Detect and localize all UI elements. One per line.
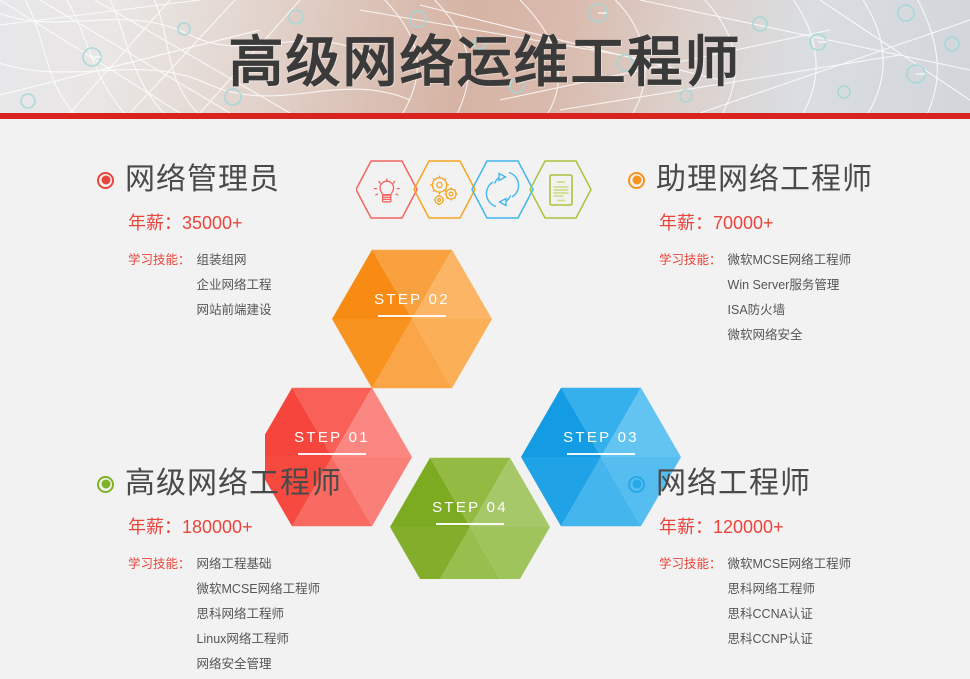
document-hex <box>530 161 591 218</box>
refresh-hex <box>472 161 533 218</box>
step-hex-02-rule <box>378 315 446 317</box>
step-hex-04-rule <box>436 523 504 525</box>
skill-item: 思科CCNP认证 <box>728 627 852 652</box>
skills-label: 学习技能： <box>128 552 191 572</box>
role-header: 助理网络工程师 <box>628 165 873 195</box>
role-title: 网络管理员 <box>125 165 280 195</box>
role-title: 高级网络工程师 <box>125 469 342 499</box>
step-hex-04[interactable] <box>390 458 550 579</box>
skill-item: 思科网络工程师 <box>197 602 321 627</box>
skill-item: Linux网络工程师 <box>197 627 321 652</box>
content-stage: STEP 02 STEP 01 STEP 0 <box>0 119 970 679</box>
skills-label: 学习技能： <box>659 248 722 268</box>
salary-text: 年薪：120000+ <box>659 513 851 539</box>
skill-item: 微软MCSE网络工程师 <box>197 577 321 602</box>
role-block-senior-network-engineer: 高级网络工程师 年薪：180000+ 学习技能： 网络工程基础 微软MCSE网络… <box>97 469 342 677</box>
skills-row: 学习技能： 组装组网 企业网络工程 网站前端建设 <box>128 248 280 323</box>
role-block-assistant-network-engineer: 助理网络工程师 年薪：70000+ 学习技能： 微软MCSE网络工程师 Win … <box>628 165 873 348</box>
role-title: 网络工程师 <box>656 469 811 499</box>
page-title: 高级网络运维工程师 <box>0 0 970 113</box>
skill-item: 网络安全管理 <box>197 652 321 677</box>
skill-item: 思科CCNA认证 <box>728 602 852 627</box>
step-hex-02[interactable] <box>332 250 492 389</box>
step-hex-01-rule <box>298 453 366 455</box>
bullet-icon <box>628 172 645 189</box>
skill-item: 网络工程基础 <box>197 552 321 577</box>
skill-item: 企业网络工程 <box>197 273 272 298</box>
role-block-network-engineer: 网络工程师 年薪：120000+ 学习技能： 微软MCSE网络工程师 思科网络工… <box>628 469 851 652</box>
step-hex-02-label: STEP 02 <box>374 291 450 308</box>
skills-row: 学习技能： 网络工程基础 微软MCSE网络工程师 思科网络工程师 Linux网络… <box>128 552 342 677</box>
skill-item: 微软MCSE网络工程师 <box>728 248 852 273</box>
skills-list: 微软MCSE网络工程师 思科网络工程师 思科CCNA认证 思科CCNP认证 <box>728 552 852 652</box>
skills-list: 组装组网 企业网络工程 网站前端建设 <box>197 248 272 323</box>
refresh-cycle-icon <box>486 173 518 207</box>
skill-item: Win Server服务管理 <box>728 273 852 298</box>
step-hex-04-label: STEP 04 <box>432 499 508 516</box>
page-header: 高级网络运维工程师 <box>0 0 970 113</box>
salary-text: 年薪：35000+ <box>128 209 280 235</box>
skills-row: 学习技能： 微软MCSE网络工程师 思科网络工程师 思科CCNA认证 思科CCN… <box>659 552 851 652</box>
skills-label: 学习技能： <box>128 248 191 268</box>
role-title: 助理网络工程师 <box>656 165 873 195</box>
skill-item: ISA防火墙 <box>728 298 852 323</box>
step-hex-03-rule <box>567 453 635 455</box>
role-header: 网络管理员 <box>97 165 280 195</box>
role-header: 网络工程师 <box>628 469 851 499</box>
lightbulb-icon <box>374 179 400 202</box>
bullet-icon <box>97 476 114 493</box>
salary-text: 年薪：180000+ <box>128 513 342 539</box>
role-header: 高级网络工程师 <box>97 469 342 499</box>
gears-icon <box>430 176 457 206</box>
bullet-icon <box>97 172 114 189</box>
role-block-network-administrator: 网络管理员 年薪：35000+ 学习技能： 组装组网 企业网络工程 网站前端建设 <box>97 165 280 323</box>
skill-item: 组装组网 <box>197 248 272 273</box>
icon-hex-strip <box>356 160 592 220</box>
skill-item: 微软MCSE网络工程师 <box>728 552 852 577</box>
skill-item: 网站前端建设 <box>197 298 272 323</box>
skills-list: 网络工程基础 微软MCSE网络工程师 思科网络工程师 Linux网络工程师 网络… <box>197 552 321 677</box>
skill-item: 思科网络工程师 <box>728 577 852 602</box>
salary-text: 年薪：70000+ <box>659 209 873 235</box>
document-icon <box>550 175 572 205</box>
gears-hex <box>414 161 475 218</box>
lightbulb-hex <box>356 161 417 218</box>
step-hex-03-label: STEP 03 <box>563 429 639 446</box>
step-hex-01-label: STEP 01 <box>294 429 370 446</box>
skills-row: 学习技能： 微软MCSE网络工程师 Win Server服务管理 ISA防火墙 … <box>659 248 873 348</box>
skills-list: 微软MCSE网络工程师 Win Server服务管理 ISA防火墙 微软网络安全 <box>728 248 852 348</box>
skills-label: 学习技能： <box>659 552 722 572</box>
bullet-icon <box>628 476 645 493</box>
skill-item: 微软网络安全 <box>728 323 852 348</box>
